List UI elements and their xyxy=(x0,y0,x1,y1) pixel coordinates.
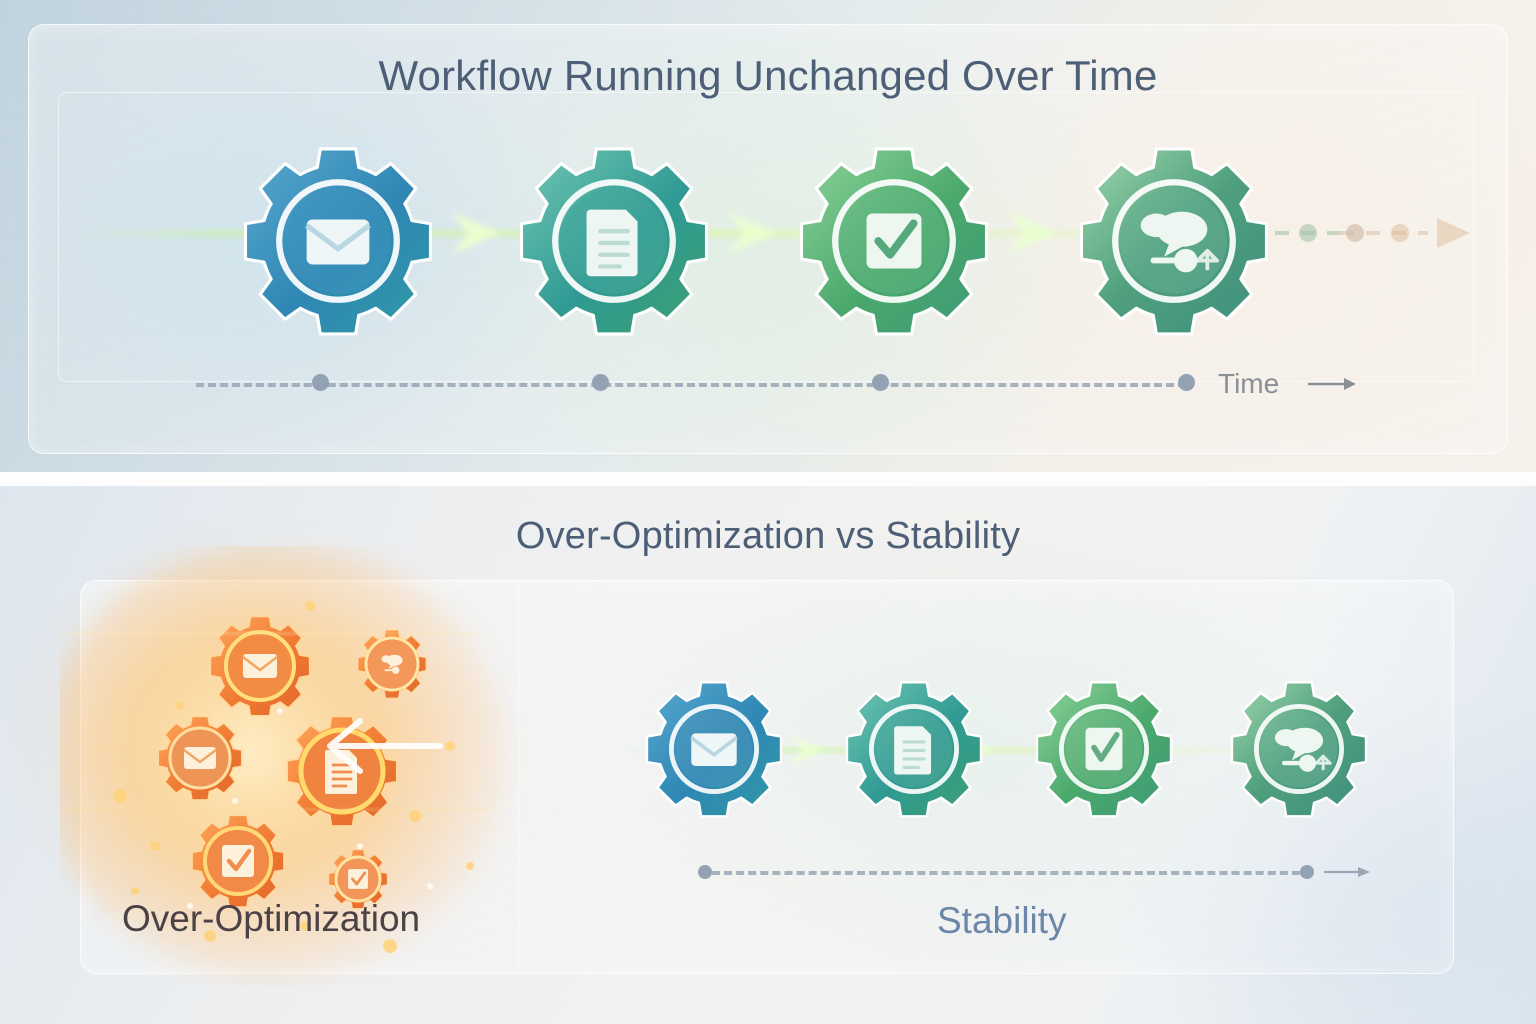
page-title-top: Workflow Running Unchanged Over Time xyxy=(0,52,1536,100)
node-mail-2[interactable] xyxy=(643,678,785,820)
timeline-track xyxy=(196,383,1186,387)
timeline-dot xyxy=(312,374,329,391)
label-stability: Stability xyxy=(937,900,1067,942)
page-title-bottom: Over-Optimization vs Stability xyxy=(0,515,1536,558)
timeline-track-bottom xyxy=(712,871,1312,875)
time-arrow-icon xyxy=(1306,370,1396,400)
time-axis-label: Time xyxy=(1218,368,1279,400)
timeline-dot xyxy=(1178,374,1195,391)
label-over-optimization: Over-Optimization xyxy=(122,898,420,940)
envelope-icon xyxy=(691,733,736,766)
panel-workflow-over-time: Time Workflow Running Unchanged Over Tim… xyxy=(0,0,1536,472)
node-chat-2[interactable] xyxy=(1228,678,1370,820)
infographic-stage: Time Workflow Running Unchanged Over Tim… xyxy=(0,0,1536,1024)
timeline-dot xyxy=(592,374,609,391)
timeline-dot xyxy=(698,865,712,879)
node-doc-2[interactable] xyxy=(843,678,985,820)
document-icon xyxy=(894,726,931,774)
panel-overopt-vs-stability xyxy=(0,486,1536,1024)
timeline-dot xyxy=(872,374,889,391)
timeline-dot xyxy=(1300,865,1314,879)
timeline-arrow-icon xyxy=(1322,859,1402,885)
panel-divider xyxy=(0,472,1536,486)
node-check-2[interactable] xyxy=(1033,678,1175,820)
checkbox-icon xyxy=(1086,728,1123,771)
